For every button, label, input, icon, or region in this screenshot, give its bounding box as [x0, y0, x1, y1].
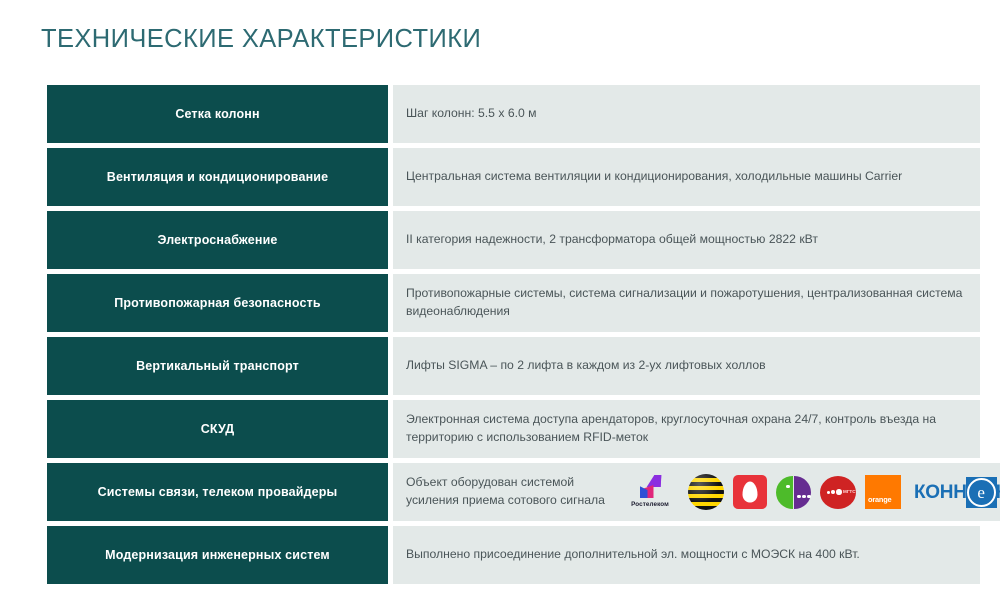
table-row: Системы связи, телеком провайдеры Объект… [47, 463, 980, 521]
spec-value: Выполнено присоединение дополнительной э… [393, 526, 980, 584]
spec-value: Шаг колонн: 5.5 x 6.0 м [393, 85, 980, 143]
table-row: Вертикальный транспорт Лифты SIGMA – по … [47, 337, 980, 395]
slide-root: ТЕХНИЧЕСКИЕ ХАРАКТЕРИСТИКИ Сетка колонн … [0, 0, 1000, 567]
konnektika-logo-icon: КОНН e КТИКА [914, 477, 1000, 508]
spec-label: Противопожарная безопасность [47, 274, 388, 332]
orange-logo-label: orange [868, 495, 891, 506]
konnektika-prefix: КОНН [914, 483, 967, 502]
spec-value-text: Противопожарные системы, система сигнали… [406, 285, 966, 320]
mgts-logo-icon: МГТС [820, 476, 856, 509]
spec-value-text: Объект оборудован системой усиления прие… [406, 474, 611, 509]
spec-label: Вертикальный транспорт [47, 337, 388, 395]
spec-table: Сетка колонн Шаг колонн: 5.5 x 6.0 м Вен… [47, 85, 980, 589]
table-row: Противопожарная безопасность Противопожа… [47, 274, 980, 332]
spec-value: Противопожарные системы, система сигнали… [393, 274, 980, 332]
table-row: Сетка колонн Шаг колонн: 5.5 x 6.0 м [47, 85, 980, 143]
megafon-logo-icon [776, 476, 811, 509]
spec-value-text: II категория надежности, 2 трансформатор… [406, 231, 818, 249]
spec-label: Вентиляция и кондиционирование [47, 148, 388, 206]
rostelecom-logo-label: Ростелеком [631, 500, 669, 509]
rostelecom-logo-icon: Ростелеком [621, 475, 679, 509]
konnektika-e-glyph: e [967, 478, 996, 507]
telecom-logo-strip: Ростелеком [621, 474, 1000, 510]
spec-label: Сетка колонн [47, 85, 388, 143]
spec-label: Электроснабжение [47, 211, 388, 269]
table-row: СКУД Электронная система доступа арендат… [47, 400, 980, 458]
table-row: Модернизация инженерных систем Выполнено… [47, 526, 980, 584]
spec-value: Центральная система вентиляции и кондици… [393, 148, 980, 206]
spec-value-text: Электронная система доступа арендаторов,… [406, 411, 966, 446]
beeline-logo-icon [688, 474, 724, 510]
table-row: Вентиляция и кондиционирование Центральн… [47, 148, 980, 206]
spec-value: Лифты SIGMA – по 2 лифта в каждом из 2-у… [393, 337, 980, 395]
spec-label: Системы связи, телеком провайдеры [47, 463, 388, 521]
spec-value: II категория надежности, 2 трансформатор… [393, 211, 980, 269]
table-row: Электроснабжение II категория надежности… [47, 211, 980, 269]
rostelecom-mark-icon [640, 475, 661, 498]
spec-label: Модернизация инженерных систем [47, 526, 388, 584]
orange-logo-icon: orange [865, 475, 901, 509]
mts-logo-icon [733, 475, 767, 509]
mgts-logo-label: МГТС [843, 489, 856, 496]
spec-value-text: Шаг колонн: 5.5 x 6.0 м [406, 105, 537, 123]
spec-value: Электронная система доступа арендаторов,… [393, 400, 980, 458]
spec-label: СКУД [47, 400, 388, 458]
spec-value-text: Выполнено присоединение дополнительной э… [406, 546, 860, 564]
spec-value: Объект оборудован системой усиления прие… [393, 463, 1000, 521]
spec-value-text: Центральная система вентиляции и кондици… [406, 168, 902, 186]
konnektika-mark-icon: e [966, 477, 997, 508]
spec-value-text: Лифты SIGMA – по 2 лифта в каждом из 2-у… [406, 357, 766, 375]
page-title: ТЕХНИЧЕСКИЕ ХАРАКТЕРИСТИКИ [41, 27, 481, 53]
